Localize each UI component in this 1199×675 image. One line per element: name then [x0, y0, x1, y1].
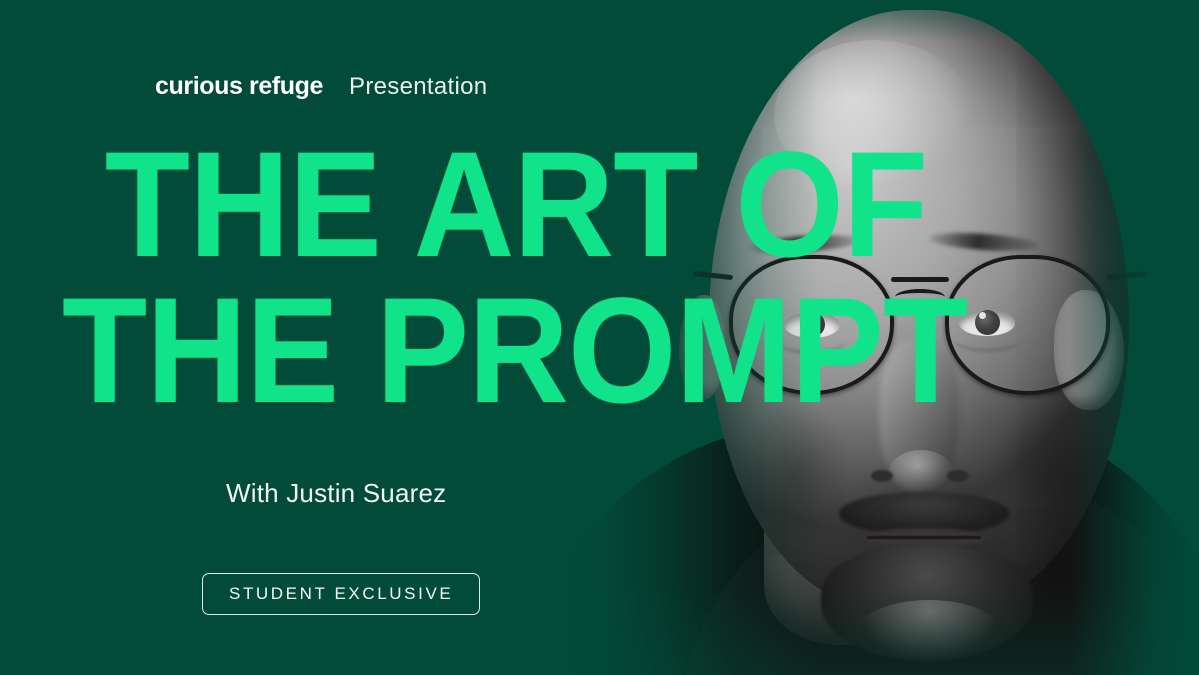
slide-content: curious refuge Presentation THE ART OF T…: [0, 0, 1199, 675]
presentation-title-slide: curious refuge Presentation THE ART OF T…: [0, 0, 1199, 675]
curious-refuge-logo: curious refuge: [155, 72, 323, 101]
page-title: THE ART OF THE PROMPT: [62, 132, 967, 423]
brand-bar: curious refuge Presentation: [155, 72, 487, 101]
status-badge: STUDENT EXCLUSIVE: [202, 573, 480, 615]
presentation-kicker: Presentation: [349, 73, 487, 101]
presenter-name: With Justin Suarez: [226, 478, 446, 509]
page-title-line-1: THE ART OF: [62, 132, 967, 278]
page-title-line-2: THE PROMPT: [62, 278, 967, 424]
